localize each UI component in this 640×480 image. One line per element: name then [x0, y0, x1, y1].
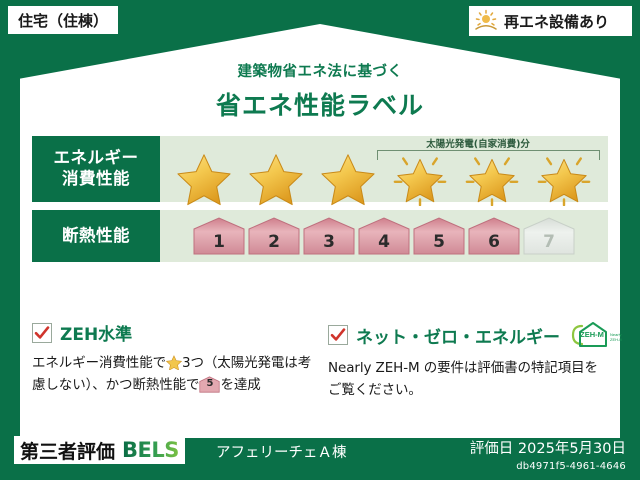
star-icon: [248, 152, 304, 206]
svg-text:ZEH-M: ZEH-M: [580, 330, 604, 339]
star-icon: [320, 152, 376, 206]
insulation-level-value: 3: [323, 234, 335, 256]
net-zero-energy-heading: ネット・ゼロ・エネルギー ZEH-M Nearly ZEH-M: [328, 320, 608, 350]
svg-text:ZEH-M: ZEH-M: [610, 337, 622, 342]
title-block: 建築物省エネ法に基づく 省エネ性能ラベル: [0, 60, 640, 122]
performance-panel: エネルギー 消費性能 太陽光発電(自家消費)分: [32, 136, 608, 270]
energy-label-line2: 消費性能: [62, 169, 130, 190]
insulation-level-badge: 4: [357, 216, 411, 256]
energy-performance-label: 住宅（住棟） 再エネ設備あり 建築物省エネ法に基づく 省エネ性能ラベ: [0, 0, 640, 480]
star-item: [168, 152, 240, 206]
footer-bar: 第三者評価 BELS アフェリーチェＡ棟 評価日 2025年5月30日 db49…: [0, 434, 640, 480]
housing-type-label: 住宅（住棟）: [18, 10, 108, 31]
insulation-level-value: 6: [488, 234, 500, 256]
insulation-level-badge-inactive: 7: [522, 216, 576, 256]
insulation-level-badge: 2: [247, 216, 301, 256]
inline-badge-value: 5: [199, 376, 220, 393]
zeh-standard-description: エネルギー消費性能で3つ（太陽光発電は考慮しない）、かつ断熱性能で5を達成: [32, 353, 312, 397]
star-item: [240, 152, 312, 206]
insulation-performance-row: 断熱性能 1 2 3: [32, 210, 608, 262]
renewable-equipment-label: 再エネ設備あり: [504, 11, 609, 32]
check-icon: [32, 323, 52, 343]
net-zero-energy-block: ネット・ゼロ・エネルギー ZEH-M Nearly ZEH-M Nearly Z…: [328, 320, 608, 402]
star-icon: [176, 152, 232, 206]
insulation-level-value: 5: [433, 234, 445, 256]
zeh-standard-heading: ZEH水準: [32, 320, 312, 345]
house-badge-strip: 1 2 3 4 5: [160, 210, 608, 262]
star-strip: [160, 156, 608, 201]
star-item: [312, 152, 384, 206]
insulation-level-badge: 1: [192, 216, 246, 256]
zeh-standard-block: ZEH水準 エネルギー消費性能で3つ（太陽光発電は考慮しない）、かつ断熱性能で5…: [32, 320, 312, 402]
energy-label-line1: エネルギー: [54, 148, 139, 169]
title-subtitle: 建築物省エネ法に基づく: [0, 60, 640, 81]
info-columns: ZEH水準 エネルギー消費性能で3つ（太陽光発電は考慮しない）、かつ断熱性能で5…: [32, 320, 612, 402]
bels-en-label: BELS: [122, 438, 179, 462]
check-icon: [328, 325, 348, 345]
star-icon: [166, 355, 182, 371]
energy-performance-row: エネルギー 消費性能 太陽光発電(自家消費)分: [32, 136, 608, 202]
star-item-solar: [528, 152, 600, 206]
evaluation-info: 評価日 2025年5月30日 db4971f5-4961-4646: [470, 437, 626, 472]
bels-certification-badge: 第三者評価 BELS: [14, 436, 185, 464]
zeh-desc-part1: エネルギー消費性能で: [32, 355, 166, 371]
insulation-label-text: 断熱性能: [62, 226, 130, 247]
insulation-level-value: 7: [543, 234, 555, 256]
insulation-performance-label: 断熱性能: [32, 210, 160, 262]
insulation-level-value: 2: [268, 234, 280, 256]
sparkle-star-icon: [536, 152, 592, 206]
sun-icon: [473, 9, 499, 33]
zeh-desc-part3: を達成: [220, 377, 260, 393]
evaluation-date: 評価日 2025年5月30日: [470, 437, 626, 458]
zeh-m-logo-icon: ZEH-M Nearly ZEH-M: [568, 320, 622, 350]
star-item-solar: [384, 152, 456, 206]
evaluation-id: db4971f5-4961-4646: [470, 461, 626, 472]
net-zero-energy-title: ネット・ゼロ・エネルギー: [356, 323, 560, 348]
energy-star-scale: 太陽光発電(自家消費)分: [160, 136, 608, 202]
insulation-level-badge: 6: [467, 216, 521, 256]
insulation-level-badge-inline: 5: [199, 376, 220, 393]
insulation-level-value: 1: [213, 234, 225, 256]
bels-jp-label: 第三者評価: [20, 437, 115, 464]
sparkle-star-icon: [464, 152, 520, 206]
insulation-level-badge: 5: [412, 216, 466, 256]
insulation-level-scale: 1 2 3 4 5: [160, 210, 608, 262]
housing-type-tag: 住宅（住棟）: [8, 6, 118, 34]
building-name: アフェリーチェＡ棟: [216, 441, 347, 462]
insulation-level-badge: 3: [302, 216, 356, 256]
page-title: 省エネ性能ラベル: [0, 86, 640, 122]
zeh-standard-title: ZEH水準: [60, 320, 132, 345]
net-zero-energy-description: Nearly ZEH-M の要件は評価書の特記項目をご覧ください。: [328, 358, 608, 402]
renewable-equipment-tag: 再エネ設備あり: [469, 6, 632, 36]
solar-bracket-label: 太陽光発電(自家消費)分: [348, 136, 608, 150]
energy-performance-label: エネルギー 消費性能: [32, 136, 160, 202]
star-item-solar: [456, 152, 528, 206]
insulation-level-value: 4: [378, 234, 390, 256]
sparkle-star-icon: [392, 152, 448, 206]
